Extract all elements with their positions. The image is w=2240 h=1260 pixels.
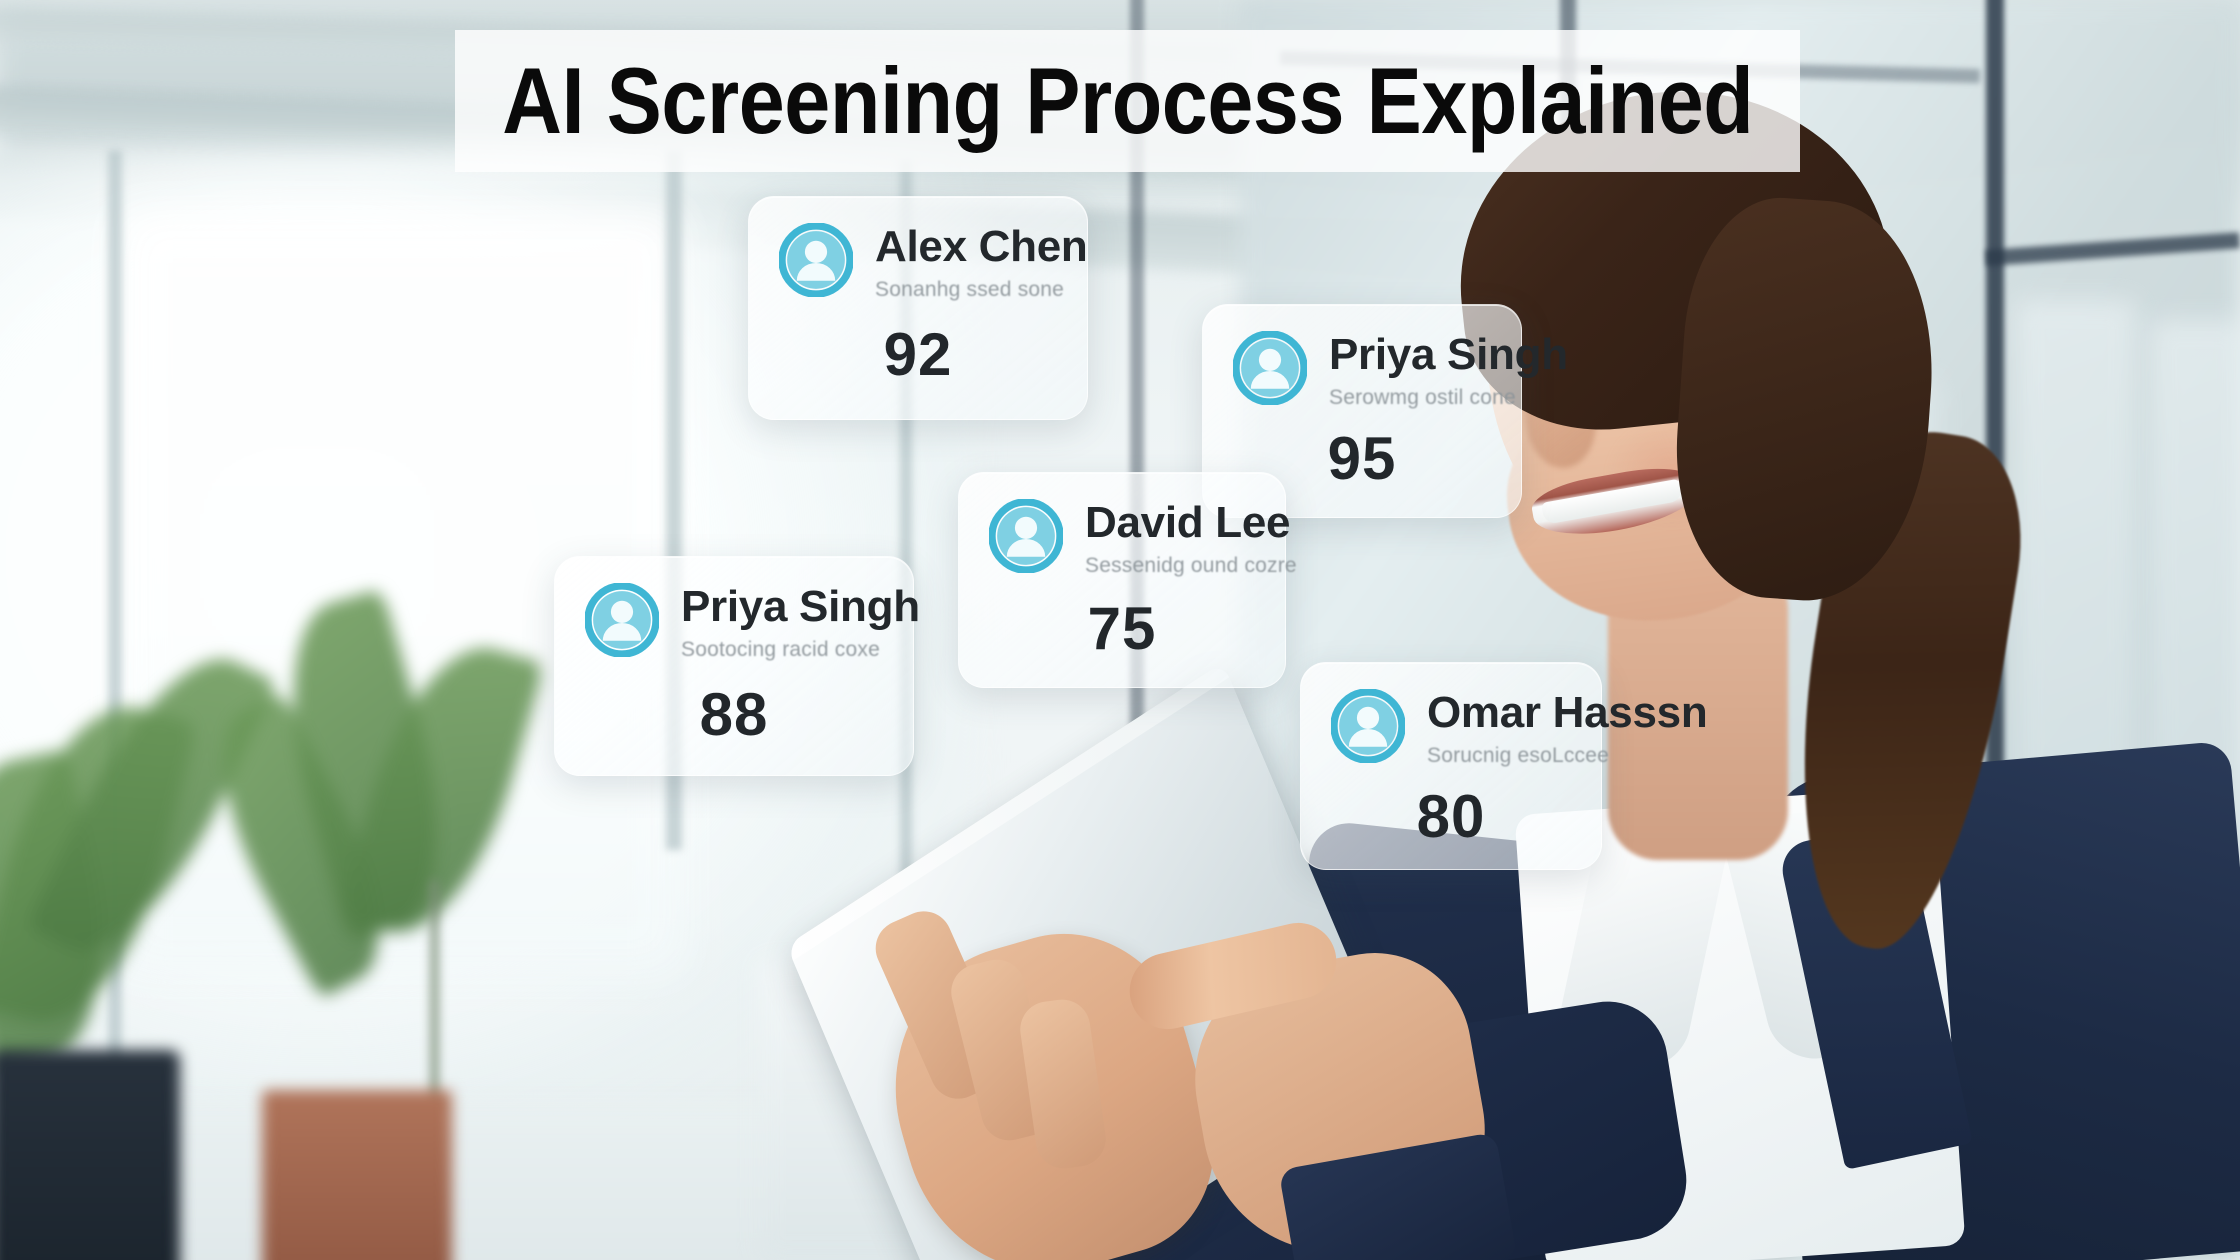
teeth bbox=[1541, 479, 1683, 525]
plant-pot bbox=[0, 1050, 180, 1260]
card-text-block: David Lee Sessenidg ound cozre bbox=[1085, 499, 1297, 578]
card-header: Alex Chen Sonanhg ssed sone bbox=[779, 223, 1057, 302]
candidate-score: 88 bbox=[585, 680, 883, 749]
card-header: Priya Singh Serowmg ostil cone bbox=[1233, 331, 1491, 410]
candidate-card-omar-hassan[interactable]: Omar Hasssn Sorucnig esoLccee 80 bbox=[1300, 662, 1602, 870]
card-text-block: Omar Hasssn Sorucnig esoLccee bbox=[1427, 689, 1707, 768]
candidate-score: 92 bbox=[779, 320, 1057, 389]
person-avatar-icon bbox=[585, 583, 659, 657]
card-text-block: Priya Singh Serowmg ostil cone bbox=[1329, 331, 1568, 410]
person-avatar-icon bbox=[1233, 331, 1307, 405]
candidate-subtitle: Sorucnig esoLccee bbox=[1427, 744, 1707, 768]
candidate-name: Priya Singh bbox=[681, 582, 920, 631]
candidate-name: David Lee bbox=[1085, 498, 1290, 547]
plant-pot bbox=[262, 1090, 452, 1260]
candidate-card-david-lee[interactable]: David Lee Sessenidg ound cozre 75 bbox=[958, 472, 1286, 688]
page-title: AI Screening Process Explained bbox=[502, 54, 1753, 148]
title-banner: AI Screening Process Explained bbox=[455, 30, 1800, 172]
candidate-subtitle: Sessenidg ound cozre bbox=[1085, 554, 1297, 578]
person-avatar-icon bbox=[1331, 689, 1405, 763]
candidate-name: Alex Chen bbox=[875, 222, 1087, 271]
candidate-score: 80 bbox=[1331, 782, 1571, 851]
candidate-name: Priya Singh bbox=[1329, 330, 1568, 379]
businesswoman-subject bbox=[1380, 0, 2240, 1260]
card-header: Omar Hasssn Sorucnig esoLccee bbox=[1331, 689, 1571, 768]
card-header: Priya Singh Sootocing racid coxe bbox=[585, 583, 883, 662]
candidate-subtitle: Serowmg ostil cone bbox=[1329, 386, 1568, 410]
card-text-block: Priya Singh Sootocing racid coxe bbox=[681, 583, 920, 662]
person-avatar-icon bbox=[989, 499, 1063, 573]
card-header: David Lee Sessenidg ound cozre bbox=[989, 499, 1255, 578]
candidate-card-alex-chen[interactable]: Alex Chen Sonanhg ssed sone 92 bbox=[748, 196, 1088, 420]
candidate-subtitle: Sootocing racid coxe bbox=[681, 638, 920, 662]
person-avatar-icon bbox=[779, 223, 853, 297]
candidate-score: 75 bbox=[989, 594, 1255, 663]
card-text-block: Alex Chen Sonanhg ssed sone bbox=[875, 223, 1087, 302]
candidate-subtitle: Sonanhg ssed sone bbox=[875, 278, 1087, 302]
plant-stem bbox=[430, 880, 439, 1110]
candidate-name: Omar Hasssn bbox=[1427, 688, 1707, 737]
candidate-card-priya-singh-88[interactable]: Priya Singh Sootocing racid coxe 88 bbox=[554, 556, 914, 776]
window-mullion bbox=[108, 150, 122, 1160]
